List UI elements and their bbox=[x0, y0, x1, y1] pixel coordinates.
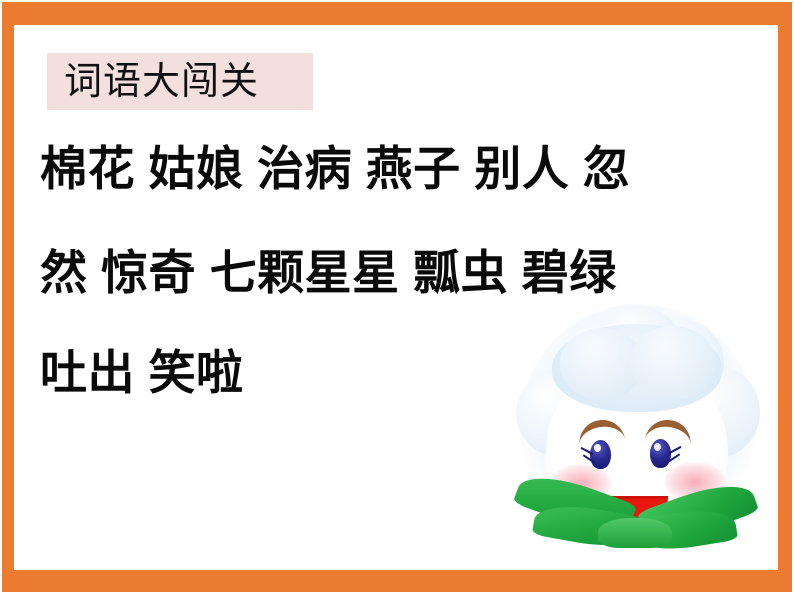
cotton-cap-lobe-right bbox=[630, 326, 716, 400]
word-list-line-2: 然 惊奇 七颗星星 瓢虫 碧绿 bbox=[40, 247, 740, 299]
eye-left bbox=[590, 440, 611, 469]
word-list-line-1: 棉花 姑娘 治病 燕子 别人 忽 bbox=[40, 143, 740, 195]
slide-border-right bbox=[778, 2, 792, 592]
eye-highlight-right bbox=[654, 443, 661, 451]
slide-border-top bbox=[2, 2, 792, 25]
slide-border-bottom bbox=[2, 570, 792, 592]
leaf-center bbox=[598, 518, 672, 548]
slide-border-left bbox=[2, 2, 14, 592]
cotton-flower-girl-illustration bbox=[512, 300, 762, 548]
slide-canvas: 词语大闯关 棉花 姑娘 治病 燕子 别人 忽 然 惊奇 七颗星星 瓢虫 碧绿 吐… bbox=[0, 0, 794, 596]
eye-right bbox=[650, 439, 671, 468]
eye-highlight-left bbox=[594, 444, 601, 452]
page-title: 词语大闯关 bbox=[64, 55, 304, 109]
